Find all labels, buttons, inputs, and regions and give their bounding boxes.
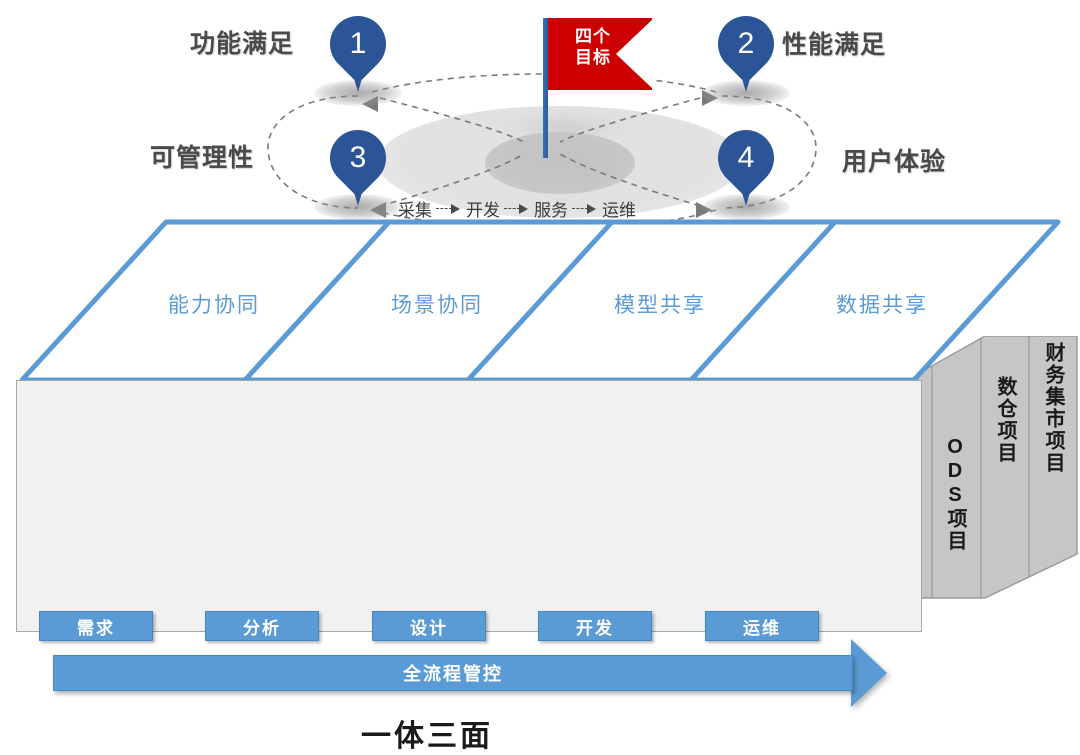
- arrow-right-icon-1: [504, 203, 530, 215]
- map-pin-icon-4[interactable]: 4: [718, 130, 774, 208]
- flag-label-line2: 目标: [556, 47, 630, 68]
- cube-front-face: 需求 分析 设计 开发 运维 全流程管控 一体三面: [16, 380, 922, 632]
- pin-number-2: 2: [718, 18, 774, 70]
- goal-label-manageability: 可管理性: [150, 138, 254, 174]
- top-panel-label-capability: 能力协同: [168, 289, 260, 319]
- stage-button-operations[interactable]: 运维: [705, 611, 819, 641]
- flag-pole: [543, 18, 548, 158]
- pin-number-1: 1: [330, 18, 386, 70]
- goal-label-user-experience: 用户体验: [842, 142, 946, 178]
- flag-label: 四个 目标: [556, 26, 630, 68]
- top-panel-label-model: 模型共享: [614, 289, 706, 319]
- three-faces-cube: ODS项目 数仓项目 财务集市项目 能力协同 场景协同 模型共享 数据共享 需求…: [0, 216, 1080, 646]
- map-pin-icon-3[interactable]: 3: [330, 130, 386, 208]
- arrow-right-icon-2: [572, 203, 598, 215]
- right-panel-label-warehouse: 数仓项目: [991, 376, 1020, 464]
- arrow-right-icon-0: [436, 203, 462, 215]
- stage-button-design[interactable]: 设计: [372, 611, 486, 641]
- map-pin-icon-1[interactable]: 1: [330, 16, 386, 94]
- process-arrow-head-icon: [851, 639, 887, 707]
- stage-button-development[interactable]: 开发: [538, 611, 652, 641]
- stage-button-row: 需求 分析 设计 开发 运维: [17, 611, 923, 643]
- goal-label-function: 功能满足: [190, 24, 294, 60]
- flag-label-line1: 四个: [556, 26, 630, 47]
- diagram-canvas: 四个 目标 1 2 3 4 功能满足 性能满足: [0, 0, 1080, 651]
- process-arrow-label: 全流程管控: [53, 655, 853, 691]
- goal-label-performance: 性能满足: [782, 25, 886, 61]
- four-goals-scene: 四个 目标 1 2 3 4 功能满足 性能满足: [0, 0, 1080, 240]
- stage-button-requirement[interactable]: 需求: [39, 611, 153, 641]
- cube-title: 一体三面: [17, 711, 837, 755]
- pin-number-3: 3: [330, 132, 386, 184]
- top-panel-label-data: 数据共享: [836, 289, 928, 319]
- stage-button-analysis[interactable]: 分析: [205, 611, 319, 641]
- right-panel-label-ods: ODS项目: [941, 436, 970, 552]
- cube-top-face: 能力协同 场景协同 模型共享 数据共享: [16, 216, 1066, 386]
- map-pin-icon-2[interactable]: 2: [718, 16, 774, 94]
- pin-number-4: 4: [718, 132, 774, 184]
- top-panel-label-scenario: 场景协同: [391, 289, 483, 319]
